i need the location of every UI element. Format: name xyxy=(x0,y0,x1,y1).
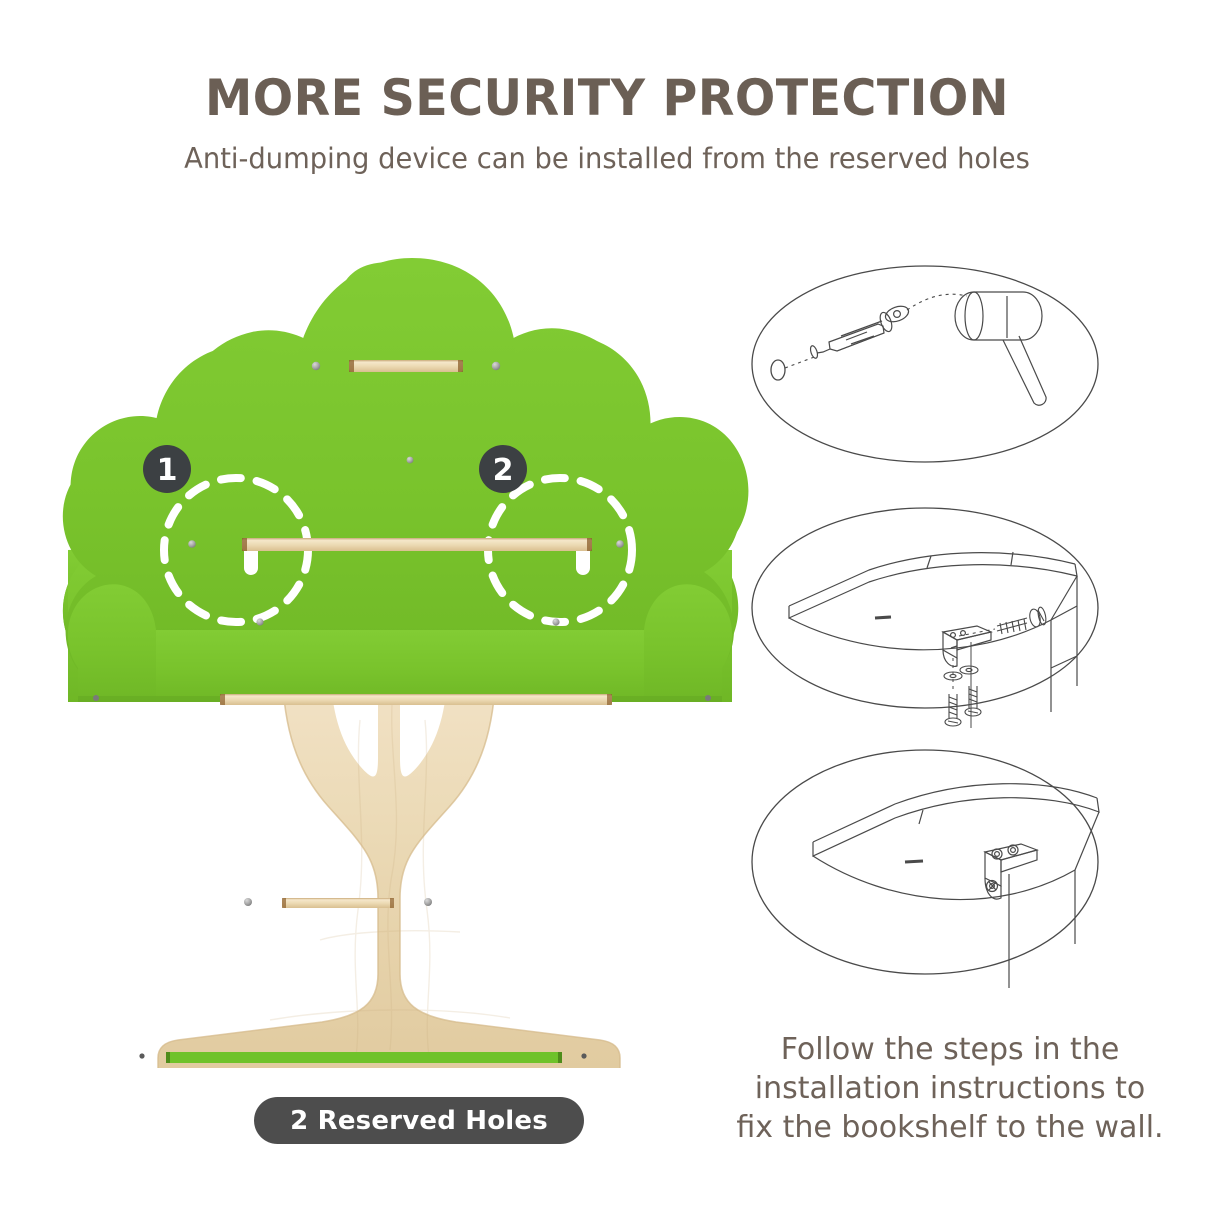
wall-anchor-icon xyxy=(809,303,911,359)
infographic-page: MORE SECURITY PROTECTION Anti-dumping de… xyxy=(0,0,1214,1214)
diagram-outline-ellipse xyxy=(752,508,1098,708)
mallet-handle xyxy=(1003,336,1046,405)
pilot-hole xyxy=(407,457,414,464)
mallet-icon xyxy=(955,292,1042,340)
diagram-outline-ellipse xyxy=(752,750,1098,974)
screw-head xyxy=(492,362,500,370)
installation-caption: Follow the steps in the installation ins… xyxy=(715,1030,1185,1147)
screw-head xyxy=(244,898,252,906)
wall-screw-icon xyxy=(997,606,1047,634)
bottom-green-shelf xyxy=(139,1052,586,1063)
reserved-holes-label: 2 Reserved Holes xyxy=(290,1106,548,1136)
badge-1-number: 1 xyxy=(157,453,178,488)
badge-2-number: 2 xyxy=(493,453,514,488)
screw-head xyxy=(552,618,559,625)
screw-head xyxy=(616,540,624,548)
caption-line-3: fix the bookshelf to the wall. xyxy=(715,1108,1185,1147)
bracket-screw-exploded-diagram xyxy=(745,490,1105,730)
trunk-mid-rail xyxy=(244,898,432,908)
screw-head xyxy=(256,618,263,625)
page-title: MORE SECURITY PROTECTION xyxy=(30,0,1183,124)
tree-trunk xyxy=(158,670,620,1068)
diagram-outline-ellipse xyxy=(752,266,1098,462)
screw-head xyxy=(139,1053,144,1058)
caption-line-2: installation instructions to xyxy=(715,1069,1185,1108)
corner-bracket-icon xyxy=(943,626,991,666)
screw-head xyxy=(424,898,432,906)
screw-head xyxy=(705,695,711,701)
wall-panel xyxy=(1051,576,1077,712)
reserved-holes-badge: 2 Reserved Holes xyxy=(254,1097,584,1144)
shelf-board xyxy=(813,784,1099,900)
installation-diagrams xyxy=(745,252,1145,1012)
bracket-installed-diagram xyxy=(745,730,1105,970)
drilled-hole-icon xyxy=(771,360,785,380)
badge-1: 1 xyxy=(143,445,191,493)
screw-head xyxy=(93,695,99,701)
screw-head xyxy=(188,540,196,548)
caption-line-1: Follow the steps in the xyxy=(715,1030,1185,1069)
screw-head xyxy=(581,1053,586,1058)
tree-bookshelf-illustration: 1 2 xyxy=(60,250,760,1090)
washer-icons xyxy=(944,666,978,680)
page-subtitle: Anti-dumping device can be installed fro… xyxy=(24,124,1189,175)
wall-anchor-hammer-diagram xyxy=(745,252,1105,492)
badge-2: 2 xyxy=(479,445,527,493)
header: MORE SECURITY PROTECTION Anti-dumping de… xyxy=(0,0,1214,175)
screw-head xyxy=(312,362,320,370)
shelf-board xyxy=(789,552,1077,650)
wall-panel xyxy=(1009,870,1075,988)
installed-bracket-icon xyxy=(985,844,1037,899)
